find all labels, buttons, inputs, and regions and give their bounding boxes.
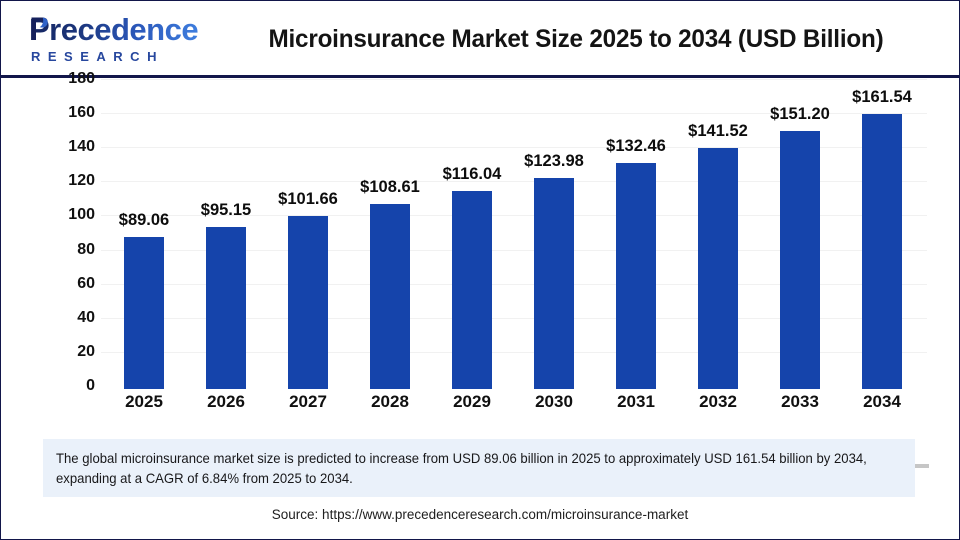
logo-subtitle: RESEARCH bbox=[31, 49, 164, 64]
y-axis-tick-label: 80 bbox=[43, 241, 95, 259]
chart-header: Precedence RESEARCH Microinsurance Marke… bbox=[1, 1, 959, 78]
chart-plot-region: 180160140120100806040200 $89.06$95.15$10… bbox=[1, 79, 959, 429]
y-axis-tick-label: 40 bbox=[43, 309, 95, 327]
y-axis-tick-label: 0 bbox=[43, 377, 95, 395]
precedence-p-mark-icon bbox=[30, 16, 49, 41]
bar[interactable] bbox=[124, 237, 164, 389]
bar-slot: $132.46 bbox=[595, 79, 677, 389]
y-axis-tick-label: 160 bbox=[43, 104, 95, 122]
x-axis-tick-label: 2026 bbox=[185, 392, 267, 412]
bar-slot: $95.15 bbox=[185, 79, 267, 389]
x-axis-tick-label: 2028 bbox=[349, 392, 431, 412]
x-axis-tick-label: 2027 bbox=[267, 392, 349, 412]
x-axis-tick-label: 2033 bbox=[759, 392, 841, 412]
y-axis-tick-label: 20 bbox=[43, 343, 95, 361]
bar[interactable] bbox=[370, 204, 410, 389]
y-axis-tick-label: 100 bbox=[43, 206, 95, 224]
bar-slot: $116.04 bbox=[431, 79, 513, 389]
bar-value-label: $151.20 bbox=[749, 105, 851, 124]
caption-box: The global microinsurance market size is… bbox=[43, 439, 915, 497]
chart-title: Microinsurance Market Size 2025 to 2034 … bbox=[217, 25, 935, 54]
x-axis-tick-label: 2031 bbox=[595, 392, 677, 412]
bar-value-label: $161.54 bbox=[831, 88, 933, 107]
bar[interactable] bbox=[534, 178, 574, 389]
bar[interactable] bbox=[862, 114, 902, 390]
y-axis-tick-label: 120 bbox=[43, 172, 95, 190]
source-line: Source: https://www.precedenceresearch.c… bbox=[1, 507, 959, 522]
caption-text: The global microinsurance market size is… bbox=[56, 449, 873, 489]
bar[interactable] bbox=[206, 227, 246, 389]
x-axis-tick-label: 2034 bbox=[841, 392, 923, 412]
precedence-research-logo: Precedence RESEARCH bbox=[13, 13, 213, 69]
bar[interactable] bbox=[616, 163, 656, 389]
x-axis-tick-label: 2032 bbox=[677, 392, 759, 412]
bar-slot: $101.66 bbox=[267, 79, 349, 389]
bar-slot: $89.06 bbox=[103, 79, 185, 389]
bar[interactable] bbox=[288, 216, 328, 389]
y-axis-tick-label: 140 bbox=[43, 138, 95, 156]
bar-slot: $161.54 bbox=[841, 79, 923, 389]
chart-page: Precedence RESEARCH Microinsurance Marke… bbox=[0, 0, 960, 540]
y-axis: 180160140120100806040200 bbox=[43, 79, 95, 389]
plot-area: $89.06$95.15$101.66$108.61$116.04$123.98… bbox=[101, 79, 927, 389]
bar-slot: $108.61 bbox=[349, 79, 431, 389]
bar-slot: $151.20 bbox=[759, 79, 841, 389]
bar[interactable] bbox=[452, 191, 492, 389]
x-axis-tick-label: 2030 bbox=[513, 392, 595, 412]
bar-slot: $141.52 bbox=[677, 79, 759, 389]
y-axis-tick-label: 60 bbox=[43, 275, 95, 293]
x-axis-tick-label: 2025 bbox=[103, 392, 185, 412]
bar[interactable] bbox=[698, 148, 738, 389]
bar-value-label: $141.52 bbox=[667, 122, 769, 141]
x-axis: 2025202620272028202920302031203220332034 bbox=[101, 392, 927, 422]
y-axis-tick-label: 180 bbox=[43, 70, 95, 88]
x-axis-tick-label: 2029 bbox=[431, 392, 513, 412]
bar[interactable] bbox=[780, 131, 820, 389]
logo-wordmark: Precedence bbox=[29, 13, 198, 47]
bar-slot: $123.98 bbox=[513, 79, 595, 389]
